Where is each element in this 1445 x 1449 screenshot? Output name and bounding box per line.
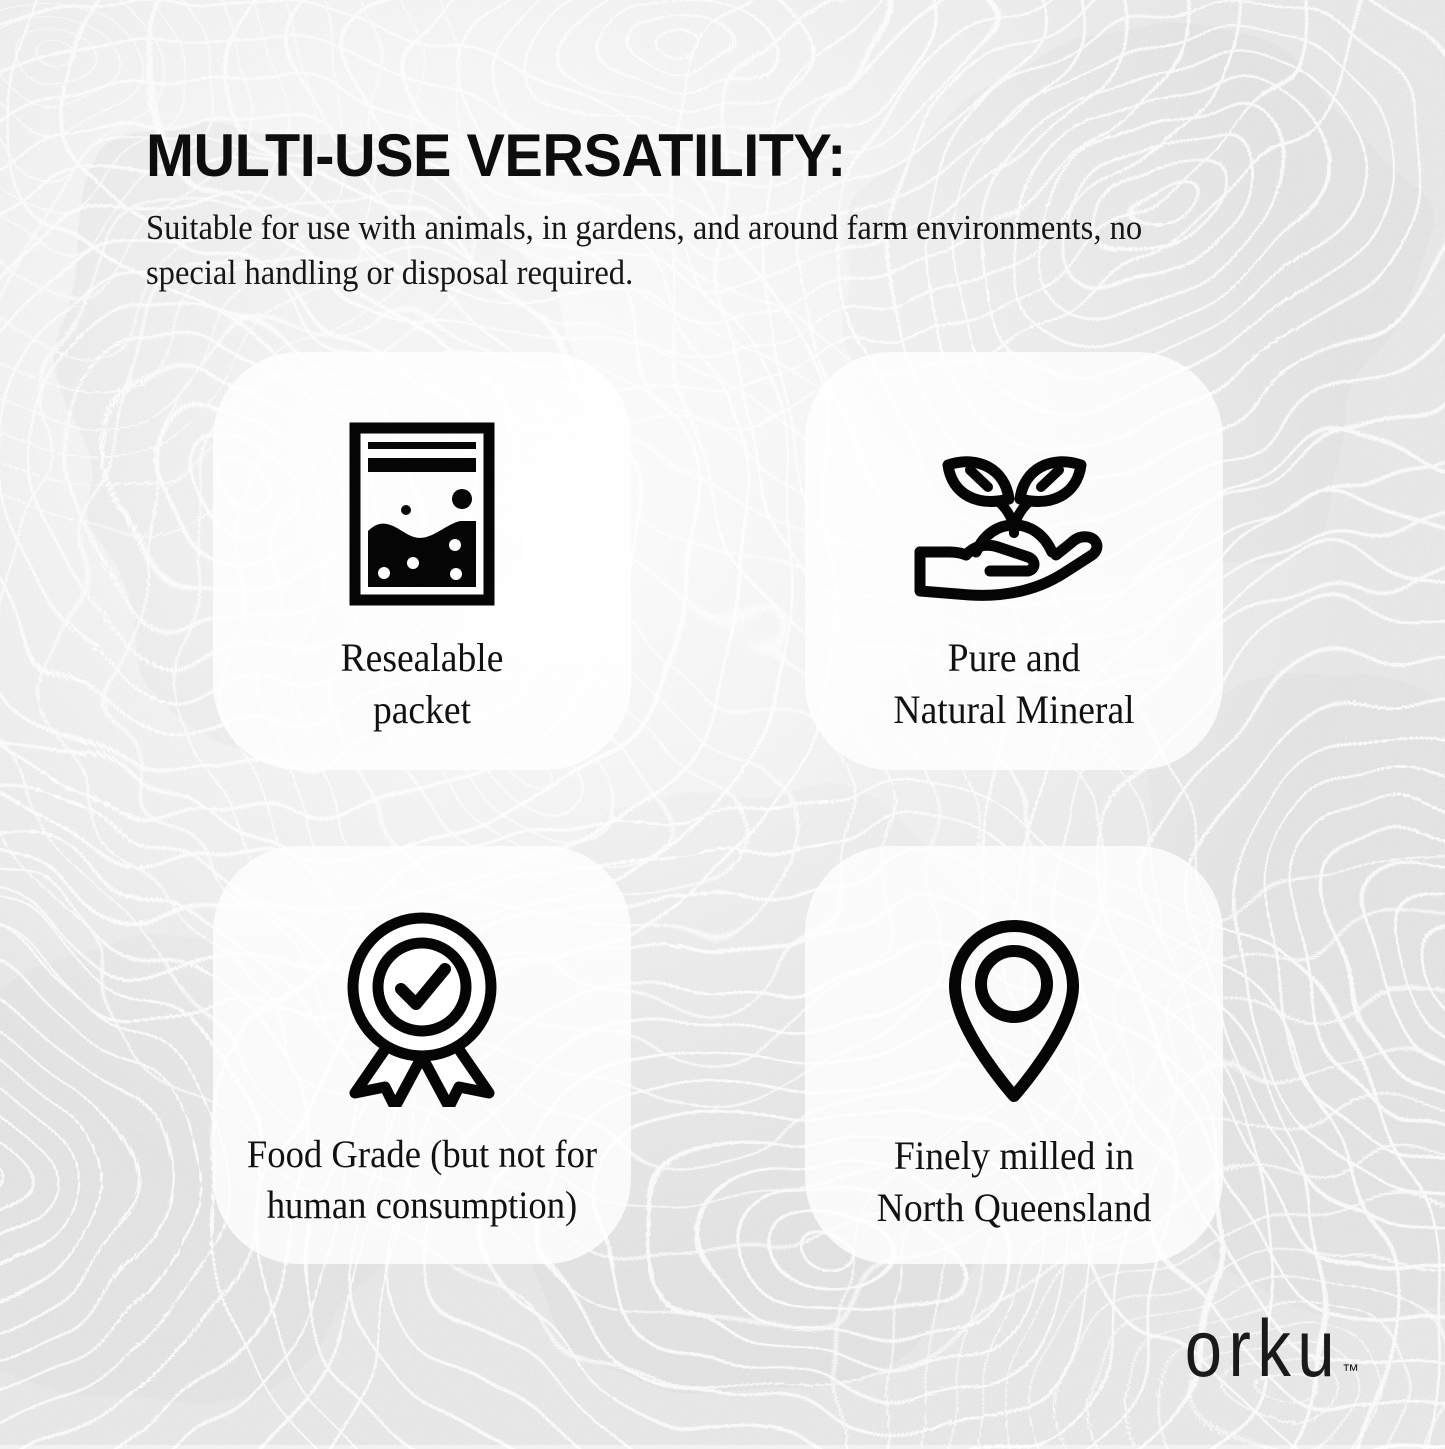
feature-card-food-grade: Food Grade (but not for human consumptio… [213, 846, 631, 1264]
feature-card-label: Food Grade (but not for human consumptio… [234, 1130, 610, 1231]
feature-card-grid: Resealablepacket [213, 352, 1223, 1264]
icon-container [337, 904, 507, 1114]
feature-card-finely-milled: Finely milled inNorth Queensland [805, 846, 1223, 1264]
icon-container [348, 414, 496, 614]
feature-card-label: Pure andNatural Mineral [826, 632, 1202, 736]
sprout-in-hand-icon [908, 425, 1120, 603]
feature-card-label: Finely milled inNorth Queensland [826, 1130, 1202, 1234]
brand-logo: orku ™ [1173, 1319, 1359, 1387]
resealable-packet-icon [348, 421, 496, 607]
brand-name: orku [1185, 1310, 1341, 1387]
feature-card-label: Resealablepacket [234, 632, 610, 736]
trademark-symbol: ™ [1342, 1361, 1359, 1381]
quality-badge-check-icon [337, 911, 507, 1107]
page-subtitle: Suitable for use with animals, in garden… [146, 206, 1225, 296]
map-pin-icon [939, 914, 1089, 1104]
feature-card-resealable-packet: Resealablepacket [213, 352, 631, 770]
page-title: MULTI-USE VERSATILITY: [146, 126, 1260, 186]
feature-card-pure-natural-mineral: Pure andNatural Mineral [805, 352, 1223, 770]
header-block: MULTI-USE VERSATILITY: Suitable for use … [146, 126, 1306, 296]
icon-container [908, 414, 1120, 614]
infographic-page: MULTI-USE VERSATILITY: Suitable for use … [0, 0, 1445, 1445]
icon-container [939, 904, 1089, 1114]
